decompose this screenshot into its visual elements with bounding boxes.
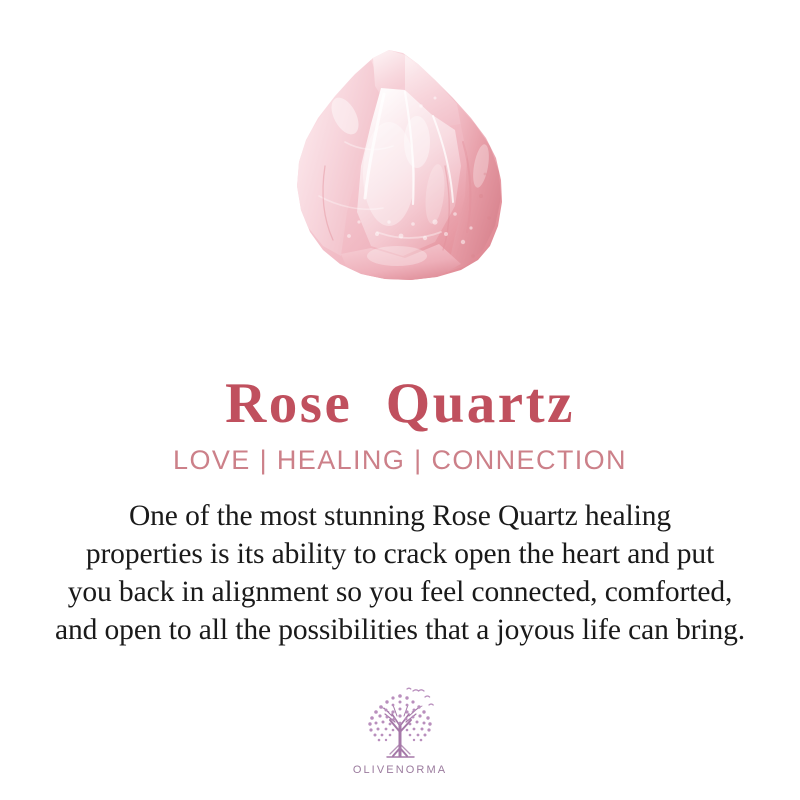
crystal-fracture-lines: [319, 92, 453, 238]
rose-quartz-info-card: Rose Quartz LOVE | HEALING | CONNECTION …: [0, 0, 800, 800]
description-line: One of the most stunning Rose Quartz hea…: [22, 497, 778, 535]
page-title: Rose Quartz: [0, 374, 800, 434]
description-line: and open to all the possibilities that a…: [22, 611, 778, 649]
tree-birds: [407, 688, 433, 705]
crystal-shadow-lines: [323, 142, 470, 250]
keyword-subtitle: LOVE | HEALING | CONNECTION: [0, 445, 800, 476]
crystal-facet-center: [357, 88, 461, 256]
description-paragraph: One of the most stunning Rose Quartz hea…: [22, 497, 778, 649]
crystal-body: [285, 46, 515, 296]
crystal-speckle-texture: [347, 97, 472, 245]
brand-name: OLIVENORMA: [353, 764, 447, 776]
tree-of-life-icon: [357, 686, 443, 762]
crystal-highlights: [326, 93, 492, 266]
crystal-facet-apex-left: [373, 50, 419, 102]
crystal-facet-apex-right: [405, 55, 471, 126]
brand-logo: OLIVENORMA: [0, 686, 800, 776]
rose-quartz-crystal-image: [285, 46, 515, 296]
description-line: you back in alignment so you feel connec…: [22, 573, 778, 611]
crystal-dark-speckle: [471, 173, 491, 258]
description-line: properties is its ability to crack open …: [22, 535, 778, 573]
crystal-facet-right: [447, 104, 501, 272]
crystal-image-container: [0, 0, 800, 300]
crystal-facet-bottom: [341, 244, 461, 281]
crystal-facet-left: [297, 60, 381, 256]
tree-trunk: [380, 705, 422, 756]
